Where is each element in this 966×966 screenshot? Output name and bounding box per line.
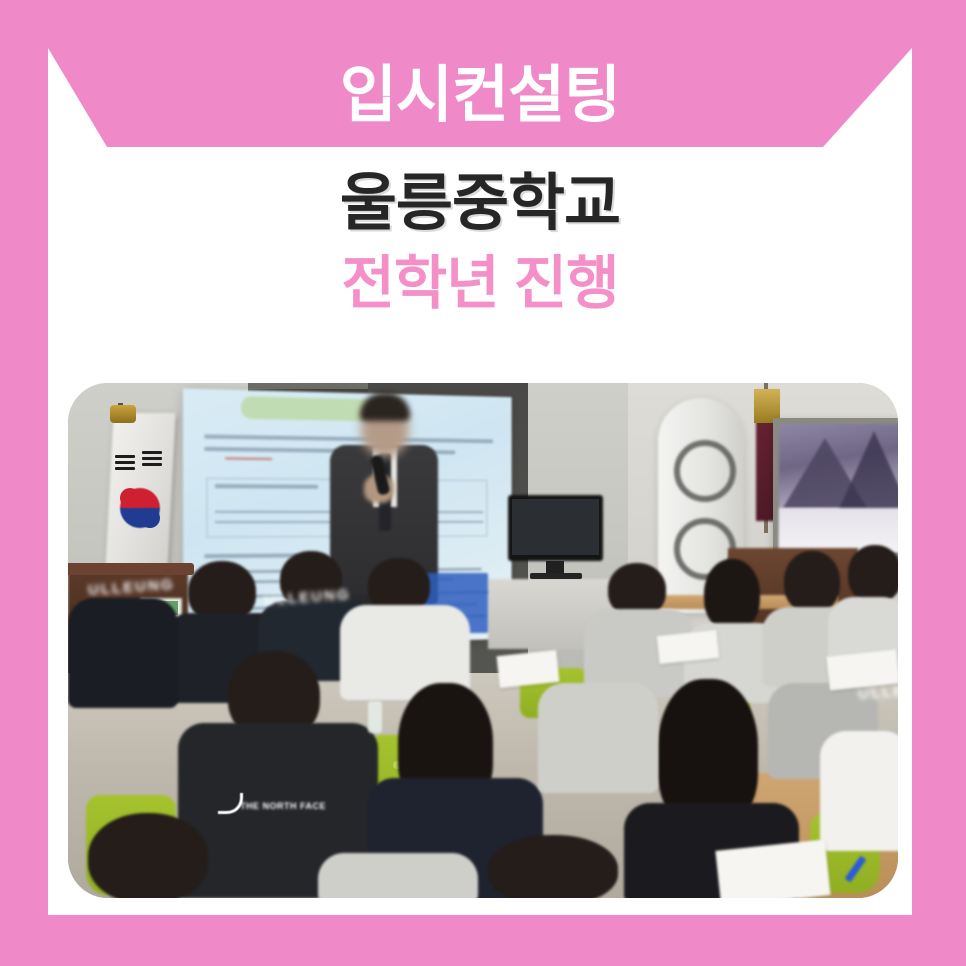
trigram-bar — [115, 461, 135, 464]
brand-logo-text: THE NORTH FACE — [240, 801, 326, 811]
student-hoodie — [318, 853, 478, 898]
student-head — [848, 545, 898, 603]
poster-card: 입시컨설팅 울릉중학교 전학년 진행 — [48, 48, 912, 915]
taeguk-blue — [140, 508, 160, 528]
student-head — [488, 835, 618, 898]
monitor-screen — [512, 499, 599, 555]
student-hoodie — [538, 683, 658, 793]
handout-paper — [496, 650, 559, 688]
student-head — [784, 551, 840, 613]
poster-root: 입시컨설팅 울릉중학교 전학년 진행 — [0, 0, 966, 966]
trigram-bar — [142, 451, 162, 454]
water-bottle — [368, 701, 382, 733]
flag-finial — [110, 405, 136, 423]
trigram-bar — [142, 457, 162, 460]
student-jacket — [68, 598, 178, 708]
podium-top — [68, 563, 194, 575]
heading-block: 울릉중학교 전학년 진행 — [48, 168, 912, 318]
student-head — [704, 559, 760, 631]
handout-paper — [715, 839, 830, 898]
school-name: 울릉중학교 — [48, 168, 912, 239]
trigram-bar — [115, 455, 135, 458]
taeguk-red — [120, 488, 140, 508]
student-white-jacket — [820, 731, 898, 851]
event-photo: ULLEUNG ULLEUNG THE NORTH FACE — [68, 383, 898, 898]
trigram-bar — [115, 467, 135, 470]
trigram-bar — [142, 463, 162, 466]
banner-title: 입시컨설팅 — [48, 48, 912, 147]
monitor-base — [530, 573, 582, 579]
handout-paper — [826, 649, 898, 690]
subtitle: 전학년 진행 — [48, 251, 912, 318]
mountain-peak — [838, 431, 898, 511]
student-head — [88, 813, 208, 898]
